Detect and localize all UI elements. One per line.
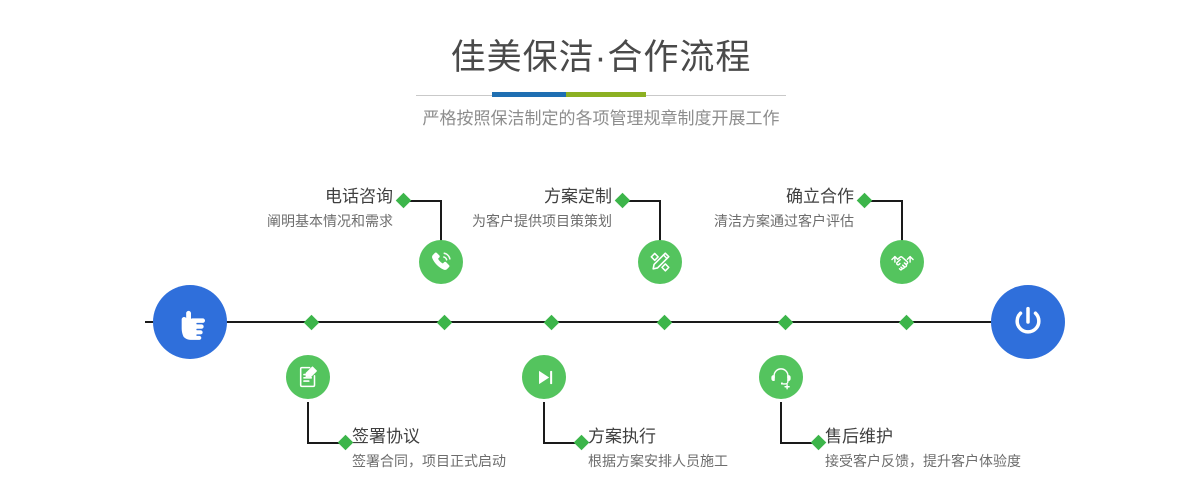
play-skip-icon	[532, 365, 557, 390]
flow-diagram-page: 佳美保洁·合作流程 严格按照保洁制定的各项管理规章制度开展工作 电话咨询	[0, 0, 1202, 502]
axis-diamond-marker	[777, 314, 793, 330]
axis-diamond-marker	[898, 314, 914, 330]
step-icon-node-4[interactable]	[522, 355, 566, 399]
axis-diamond-marker	[656, 314, 672, 330]
step-title-6: 售后维护	[825, 426, 1115, 448]
axis-diamond-marker	[543, 314, 559, 330]
phone-call-icon	[428, 249, 455, 276]
handshake-icon	[889, 249, 916, 276]
step-label-1: 电话咨询 阐明基本情况和需求	[150, 186, 393, 231]
axis-diamond-marker	[436, 314, 452, 330]
step-title-5: 确立合作	[612, 186, 854, 208]
step-desc-6: 接受客户反馈，提升客户体验度	[825, 451, 1115, 471]
label-diamond-step-5	[857, 193, 873, 209]
power-icon	[1008, 302, 1048, 342]
title-divider	[416, 92, 786, 98]
step-label-4: 方案执行 根据方案安排人员施工	[588, 426, 848, 471]
step-icon-node-3[interactable]	[638, 240, 682, 284]
divider-segment-blue	[492, 92, 566, 97]
step-label-5: 确立合作 清洁方案通过客户评估	[612, 186, 854, 231]
step-desc-4: 根据方案安排人员施工	[588, 451, 848, 471]
step-title-2: 签署协议	[352, 426, 612, 448]
step-icon-node-6[interactable]	[759, 355, 803, 399]
step-desc-3: 为客户提供项目策策划	[370, 211, 612, 231]
document-edit-icon	[295, 364, 321, 390]
timeline-start-node[interactable]	[153, 285, 227, 359]
label-diamond-step-2	[338, 435, 354, 451]
step-desc-2: 签署合同，项目正式启动	[352, 451, 612, 471]
axis-diamond-marker	[303, 314, 319, 330]
connector-vertical-step-2	[307, 402, 309, 444]
step-icon-node-2[interactable]	[286, 355, 330, 399]
pointing-hand-icon	[170, 302, 210, 342]
step-icon-node-1[interactable]	[419, 240, 463, 284]
customer-service-icon	[768, 364, 794, 390]
step-label-2: 签署协议 签署合同，项目正式启动	[352, 426, 612, 471]
page-subtitle: 严格按照保洁制定的各项管理规章制度开展工作	[0, 98, 1202, 131]
step-title-4: 方案执行	[588, 426, 848, 448]
step-label-6: 售后维护 接受客户反馈，提升客户体验度	[825, 426, 1115, 471]
divider-segment-green	[566, 92, 646, 97]
step-icon-node-5[interactable]	[880, 240, 924, 284]
step-desc-5: 清洁方案通过客户评估	[612, 211, 854, 231]
step-title-1: 电话咨询	[150, 186, 393, 208]
timeline-end-node[interactable]	[991, 285, 1065, 359]
step-label-3: 方案定制 为客户提供项目策策划	[370, 186, 612, 231]
timeline-axis	[145, 321, 1057, 323]
pencil-ruler-icon	[647, 249, 673, 275]
page-title: 佳美保洁·合作流程	[0, 0, 1202, 80]
step-desc-1: 阐明基本情况和需求	[150, 211, 393, 231]
page-header: 佳美保洁·合作流程 严格按照保洁制定的各项管理规章制度开展工作	[0, 0, 1202, 131]
